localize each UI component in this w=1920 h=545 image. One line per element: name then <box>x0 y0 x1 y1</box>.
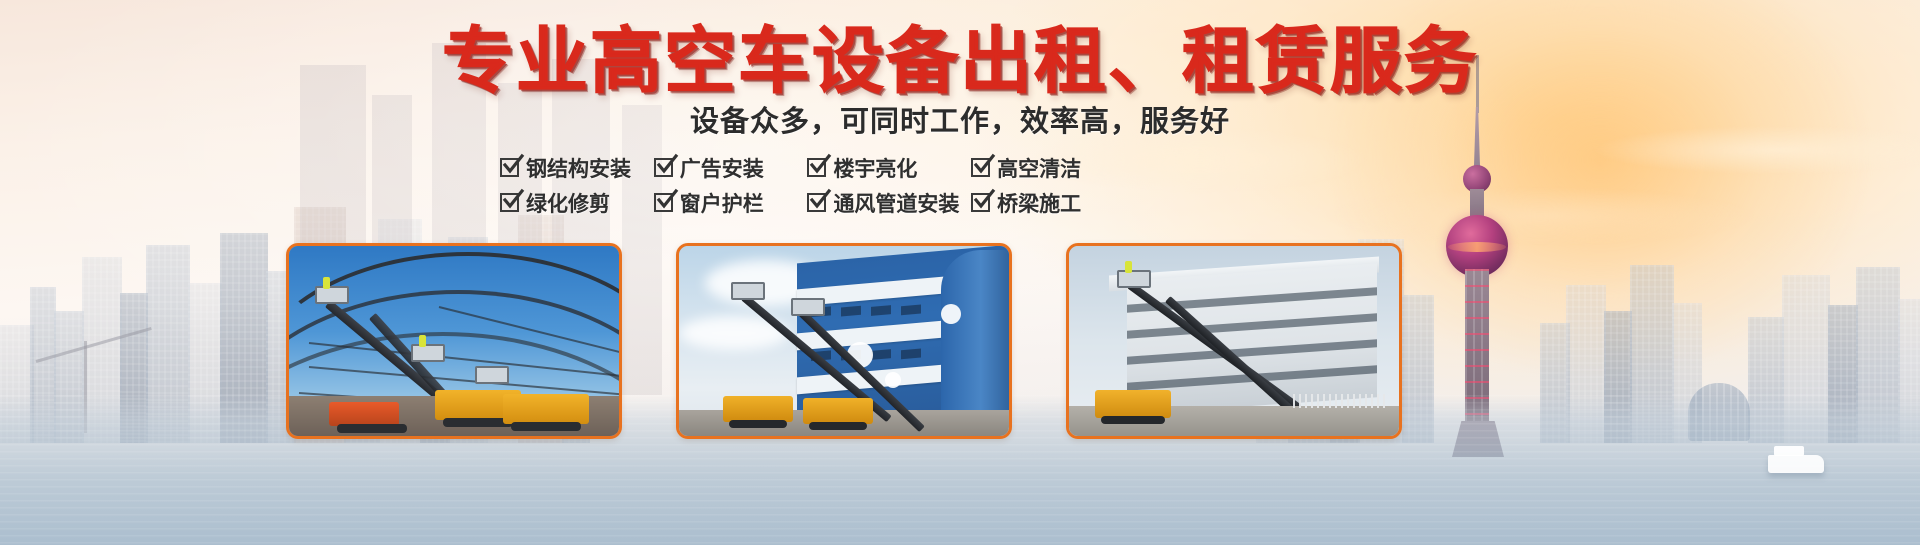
checkbox-checked-icon <box>971 158 990 177</box>
feature-list: 钢结构安装 广告安装 楼宇亮化 <box>500 150 1100 220</box>
feature-label: 楼宇亮化 <box>833 153 917 183</box>
checkbox-checked-icon <box>807 193 826 212</box>
promo-banner: 专业高空车设备出租、租赁服务 设备众多，可同时工作，效率高，服务好 钢结构安装 … <box>0 0 1920 545</box>
checkbox-checked-icon <box>654 193 673 212</box>
checkbox-checked-icon <box>500 158 519 177</box>
feature-item-steel-structure: 钢结构安装 <box>500 153 654 183</box>
feature-label: 窗户护栏 <box>680 188 764 218</box>
photo-grey-office-building[interactable] <box>1066 243 1402 439</box>
checkbox-checked-icon <box>654 158 673 177</box>
checkbox-checked-icon <box>807 158 826 177</box>
feature-row: 绿化修剪 窗户护栏 通风管道安装 <box>500 185 1100 220</box>
photo-steel-truss-roof[interactable] <box>286 243 622 439</box>
feature-label: 通风管道安装 <box>833 188 959 218</box>
photo-blue-facade-building[interactable] <box>676 243 1012 439</box>
feature-item-window-railing: 窗户护栏 <box>654 188 808 218</box>
feature-item-ventilation-duct-install: 通风管道安装 <box>807 188 971 218</box>
checkbox-checked-icon <box>500 193 519 212</box>
feature-item-advertising-install: 广告安装 <box>654 153 808 183</box>
feature-item-building-lighting: 楼宇亮化 <box>807 153 971 183</box>
feature-label: 桥梁施工 <box>997 188 1081 218</box>
feature-label: 绿化修剪 <box>526 188 610 218</box>
feature-label: 高空清洁 <box>997 153 1081 183</box>
page-subtitle: 设备众多，可同时工作，效率高，服务好 <box>0 108 1920 137</box>
feature-item-greenery-trimming: 绿化修剪 <box>500 188 654 218</box>
feature-item-bridge-construction: 桥梁施工 <box>971 188 1100 218</box>
feature-row: 钢结构安装 广告安装 楼宇亮化 <box>500 150 1100 185</box>
feature-label: 广告安装 <box>680 153 764 183</box>
page-title: 专业高空车设备出租、租赁服务 <box>0 26 1920 98</box>
feature-item-high-altitude-cleaning: 高空清洁 <box>971 153 1100 183</box>
checkbox-checked-icon <box>971 193 990 212</box>
feature-label: 钢结构安装 <box>526 153 631 183</box>
photo-gallery <box>286 243 1402 439</box>
